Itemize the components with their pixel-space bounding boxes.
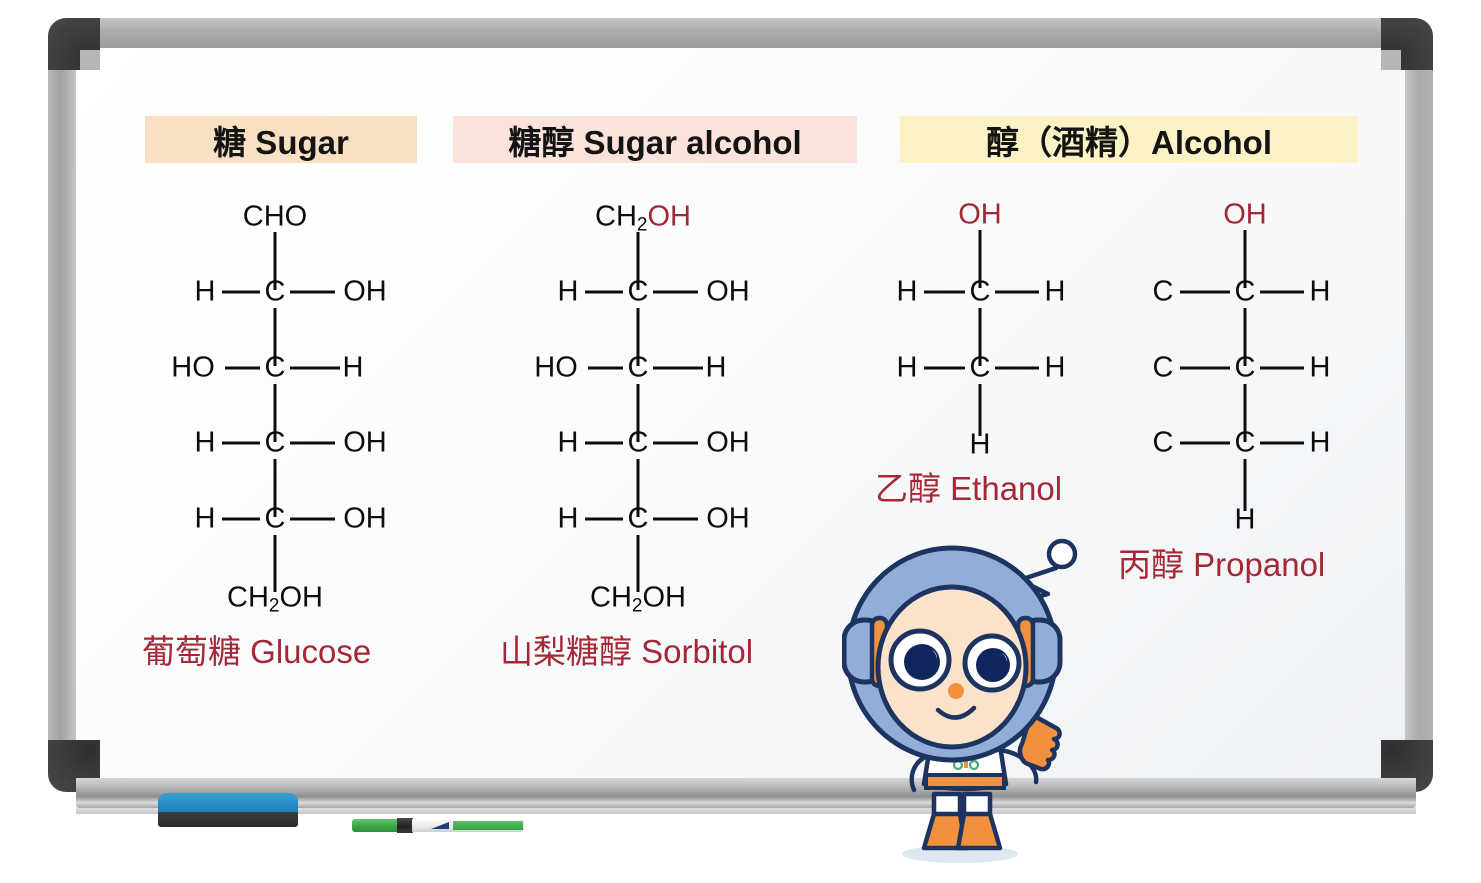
header-sugar-label: 糖 Sugar <box>213 116 349 164</box>
whiteboard-eraser[interactable] <box>158 793 298 827</box>
sorbitol-c3-right: OH <box>706 429 750 458</box>
glucose-bottom-group: CH2OH <box>227 584 323 613</box>
propanol-c3-center: C <box>1235 429 1256 458</box>
header-sugar-alcohol: 糖醇 Sugar alcohol <box>453 116 857 163</box>
sorbitol-bond-h3l <box>585 442 623 445</box>
glucose-c4-left: H <box>195 505 216 534</box>
sorbitol-bond-h1r <box>653 291 698 294</box>
glucose-c1-left: H <box>195 278 216 307</box>
marker-tip <box>352 819 398 832</box>
glucose-c2-left: HO <box>171 354 215 383</box>
glucose-top-group: CHO <box>243 203 307 232</box>
sorbitol-c4-right: OH <box>706 505 750 534</box>
molecule-ethanol: OH H C H H C H H <box>880 190 1080 460</box>
header-alcohol-label: 醇（酒精）Alcohol <box>986 116 1272 164</box>
sorbitol-c2-right: H <box>706 354 727 383</box>
propanol-c1-center: C <box>1235 278 1256 307</box>
frame-right-bar <box>1405 64 1433 764</box>
glucose-bond-h3r <box>290 442 335 445</box>
caption-sorbitol: 山梨糖醇 Sorbitol <box>500 635 753 668</box>
sorbitol-c1-center: C <box>628 278 649 307</box>
header-alcohol: 醇（酒精）Alcohol <box>900 116 1358 163</box>
ethanol-c2-left: H <box>897 354 918 383</box>
propanol-top-group: OH <box>1223 201 1267 230</box>
glucose-bond-h4r <box>290 518 335 521</box>
propanol-c1-right: H <box>1310 278 1331 307</box>
caption-propanol: 丙醇 Propanol <box>1118 548 1325 581</box>
marker-color-band <box>453 821 523 830</box>
glucose-bond-h1r <box>290 291 335 294</box>
glucose-c3-right: OH <box>343 429 387 458</box>
eraser-top-half <box>158 793 298 814</box>
glucose-c3-left: H <box>195 429 216 458</box>
glucose-c1-right: OH <box>343 278 387 307</box>
sorbitol-bond-h2l <box>588 367 623 370</box>
glucose-c4-right: OH <box>343 505 387 534</box>
ethanol-bond-h2r <box>995 367 1039 370</box>
sorbitol-top-group: CH2OH <box>595 203 691 232</box>
propanol-c1-left: C <box>1153 278 1174 307</box>
ethanol-bond-h2l <box>924 367 965 370</box>
molecule-propanol: OH C C H C C H C C H H <box>1140 190 1350 540</box>
molecule-sorbitol: CH2OH H C OH HO C H H C OH H C OH CH2OH <box>525 190 795 620</box>
eraser-bottom-half <box>158 812 298 827</box>
glucose-bond-h1l <box>222 291 260 294</box>
ethanol-c1-right: H <box>1045 278 1066 307</box>
glucose-bond-h4l <box>222 518 260 521</box>
propanol-bond-h1l <box>1180 291 1230 294</box>
caption-glucose: 葡萄糖 Glucose <box>142 635 371 668</box>
frame-left-bar <box>48 64 76 764</box>
molecule-glucose: CHO H C OH HO C H H C OH H C OH CH2OH <box>160 190 430 620</box>
sorbitol-bond-h4r <box>653 518 698 521</box>
sorbitol-c3-left: H <box>558 429 579 458</box>
sorbitol-c3-center: C <box>628 429 649 458</box>
sorbitol-c2-center: C <box>628 354 649 383</box>
green-marker[interactable] <box>352 817 524 834</box>
glucose-c4-center: C <box>265 505 286 534</box>
ethanol-bond-h1r <box>995 291 1039 294</box>
sorbitol-c4-center: C <box>628 505 649 534</box>
sorbitol-c1-right: OH <box>706 278 750 307</box>
propanol-c2-right: H <box>1310 354 1331 383</box>
sorbitol-bond-h2r <box>653 367 703 370</box>
propanol-bond-h2l <box>1180 367 1230 370</box>
frame-top-bar <box>94 18 1387 48</box>
propanol-c3-left: C <box>1153 429 1174 458</box>
sorbitol-bond-h4l <box>585 518 623 521</box>
header-sugar: 糖 Sugar <box>145 116 417 163</box>
marker-logo-icon <box>429 821 451 830</box>
glucose-c2-right: H <box>343 354 364 383</box>
ethanol-c1-center: C <box>970 278 991 307</box>
corner-notch-tr <box>1381 50 1401 70</box>
glucose-bond-h2l <box>225 367 260 370</box>
robot-mascot <box>842 532 1090 867</box>
propanol-bond-h3r <box>1260 442 1304 445</box>
header-sugar-alcohol-label: 糖醇 Sugar alcohol <box>508 116 801 164</box>
propanol-bond-h1r <box>1260 291 1304 294</box>
glucose-c1-center: C <box>265 278 286 307</box>
ethanol-bottom-group: H <box>970 431 991 460</box>
propanol-c3-right: H <box>1310 429 1331 458</box>
propanol-bottom-group: H <box>1235 506 1256 535</box>
sorbitol-bond-h1l <box>585 291 623 294</box>
glucose-bond-h3l <box>222 442 260 445</box>
ethanol-c1-left: H <box>897 278 918 307</box>
glucose-c3-center: C <box>265 429 286 458</box>
propanol-bond-h2r <box>1260 367 1304 370</box>
glucose-c2-center: C <box>265 354 286 383</box>
sorbitol-c1-left: H <box>558 278 579 307</box>
glucose-bond-h2r <box>290 367 340 370</box>
sorbitol-bond-h3r <box>653 442 698 445</box>
ethanol-bond-h1l <box>924 291 965 294</box>
marker-ring <box>397 818 413 833</box>
corner-notch-tl <box>80 50 100 70</box>
propanol-bond-h3l <box>1180 442 1230 445</box>
caption-ethanol: 乙醇 Ethanol <box>875 472 1062 505</box>
sorbitol-c2-left: HO <box>534 354 578 383</box>
screenshot-root: 糖 Sugar 糖醇 Sugar alcohol 醇（酒精）Alcohol CH… <box>0 0 1481 883</box>
sorbitol-c4-left: H <box>558 505 579 534</box>
ethanol-top-group: OH <box>958 201 1002 230</box>
robot-mascot-icon <box>842 532 1090 867</box>
ethanol-c2-right: H <box>1045 354 1066 383</box>
propanol-c2-left: C <box>1153 354 1174 383</box>
propanol-c2-center: C <box>1235 354 1256 383</box>
sorbitol-bottom-group: CH2OH <box>590 584 686 613</box>
ethanol-c2-center: C <box>970 354 991 383</box>
